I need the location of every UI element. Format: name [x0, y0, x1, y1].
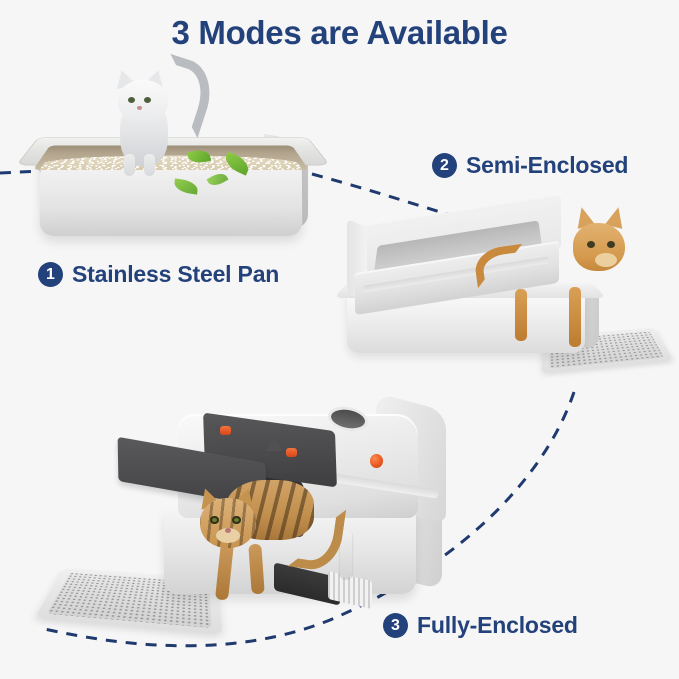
cat-eye-right — [607, 241, 615, 248]
cat-leg-right — [248, 544, 264, 595]
badge-number-2: 2 — [432, 153, 457, 178]
cat-muzzle — [595, 253, 617, 267]
product-stainless-steel-pan — [28, 112, 318, 252]
page-title: 3 Modes are Available — [0, 14, 679, 52]
cat-eye-right — [232, 516, 241, 524]
badge-number-3: 3 — [383, 613, 408, 638]
cat-leg-front — [569, 287, 581, 347]
cat-eye-right — [144, 97, 151, 103]
tabby-cat — [196, 470, 326, 620]
silver-cat — [106, 66, 192, 174]
orange-latch-right — [286, 448, 297, 457]
callout-label-1: Stainless Steel Pan — [72, 261, 279, 288]
cat-leg-back — [515, 289, 527, 341]
cat-leg-left — [215, 541, 234, 600]
cat-nose — [137, 106, 142, 110]
lid-knob-right — [266, 436, 282, 451]
badge-number-1: 1 — [38, 262, 63, 287]
cat-leg-left — [124, 154, 135, 176]
cat-eye-left — [210, 516, 219, 524]
cat-head — [118, 80, 168, 122]
product-semi-enclosed — [345, 205, 665, 390]
cat-leg-right — [144, 154, 155, 176]
callout-stainless-steel-pan: 1 Stainless Steel Pan — [38, 261, 279, 288]
callout-label-2: Semi-Enclosed — [466, 152, 628, 179]
callout-fully-enclosed: 3 Fully-Enclosed — [383, 612, 578, 639]
infographic-canvas: 3 Modes are Available — [0, 0, 679, 679]
cat-eye-left — [128, 97, 135, 103]
cat-eye-left — [587, 241, 595, 248]
callout-semi-enclosed: 2 Semi-Enclosed — [432, 152, 628, 179]
orange-button-side — [370, 454, 383, 468]
callout-label-3: Fully-Enclosed — [417, 612, 578, 639]
bengal-cat — [495, 201, 635, 351]
cat-nose — [225, 528, 231, 533]
orange-latch-left — [220, 426, 231, 435]
